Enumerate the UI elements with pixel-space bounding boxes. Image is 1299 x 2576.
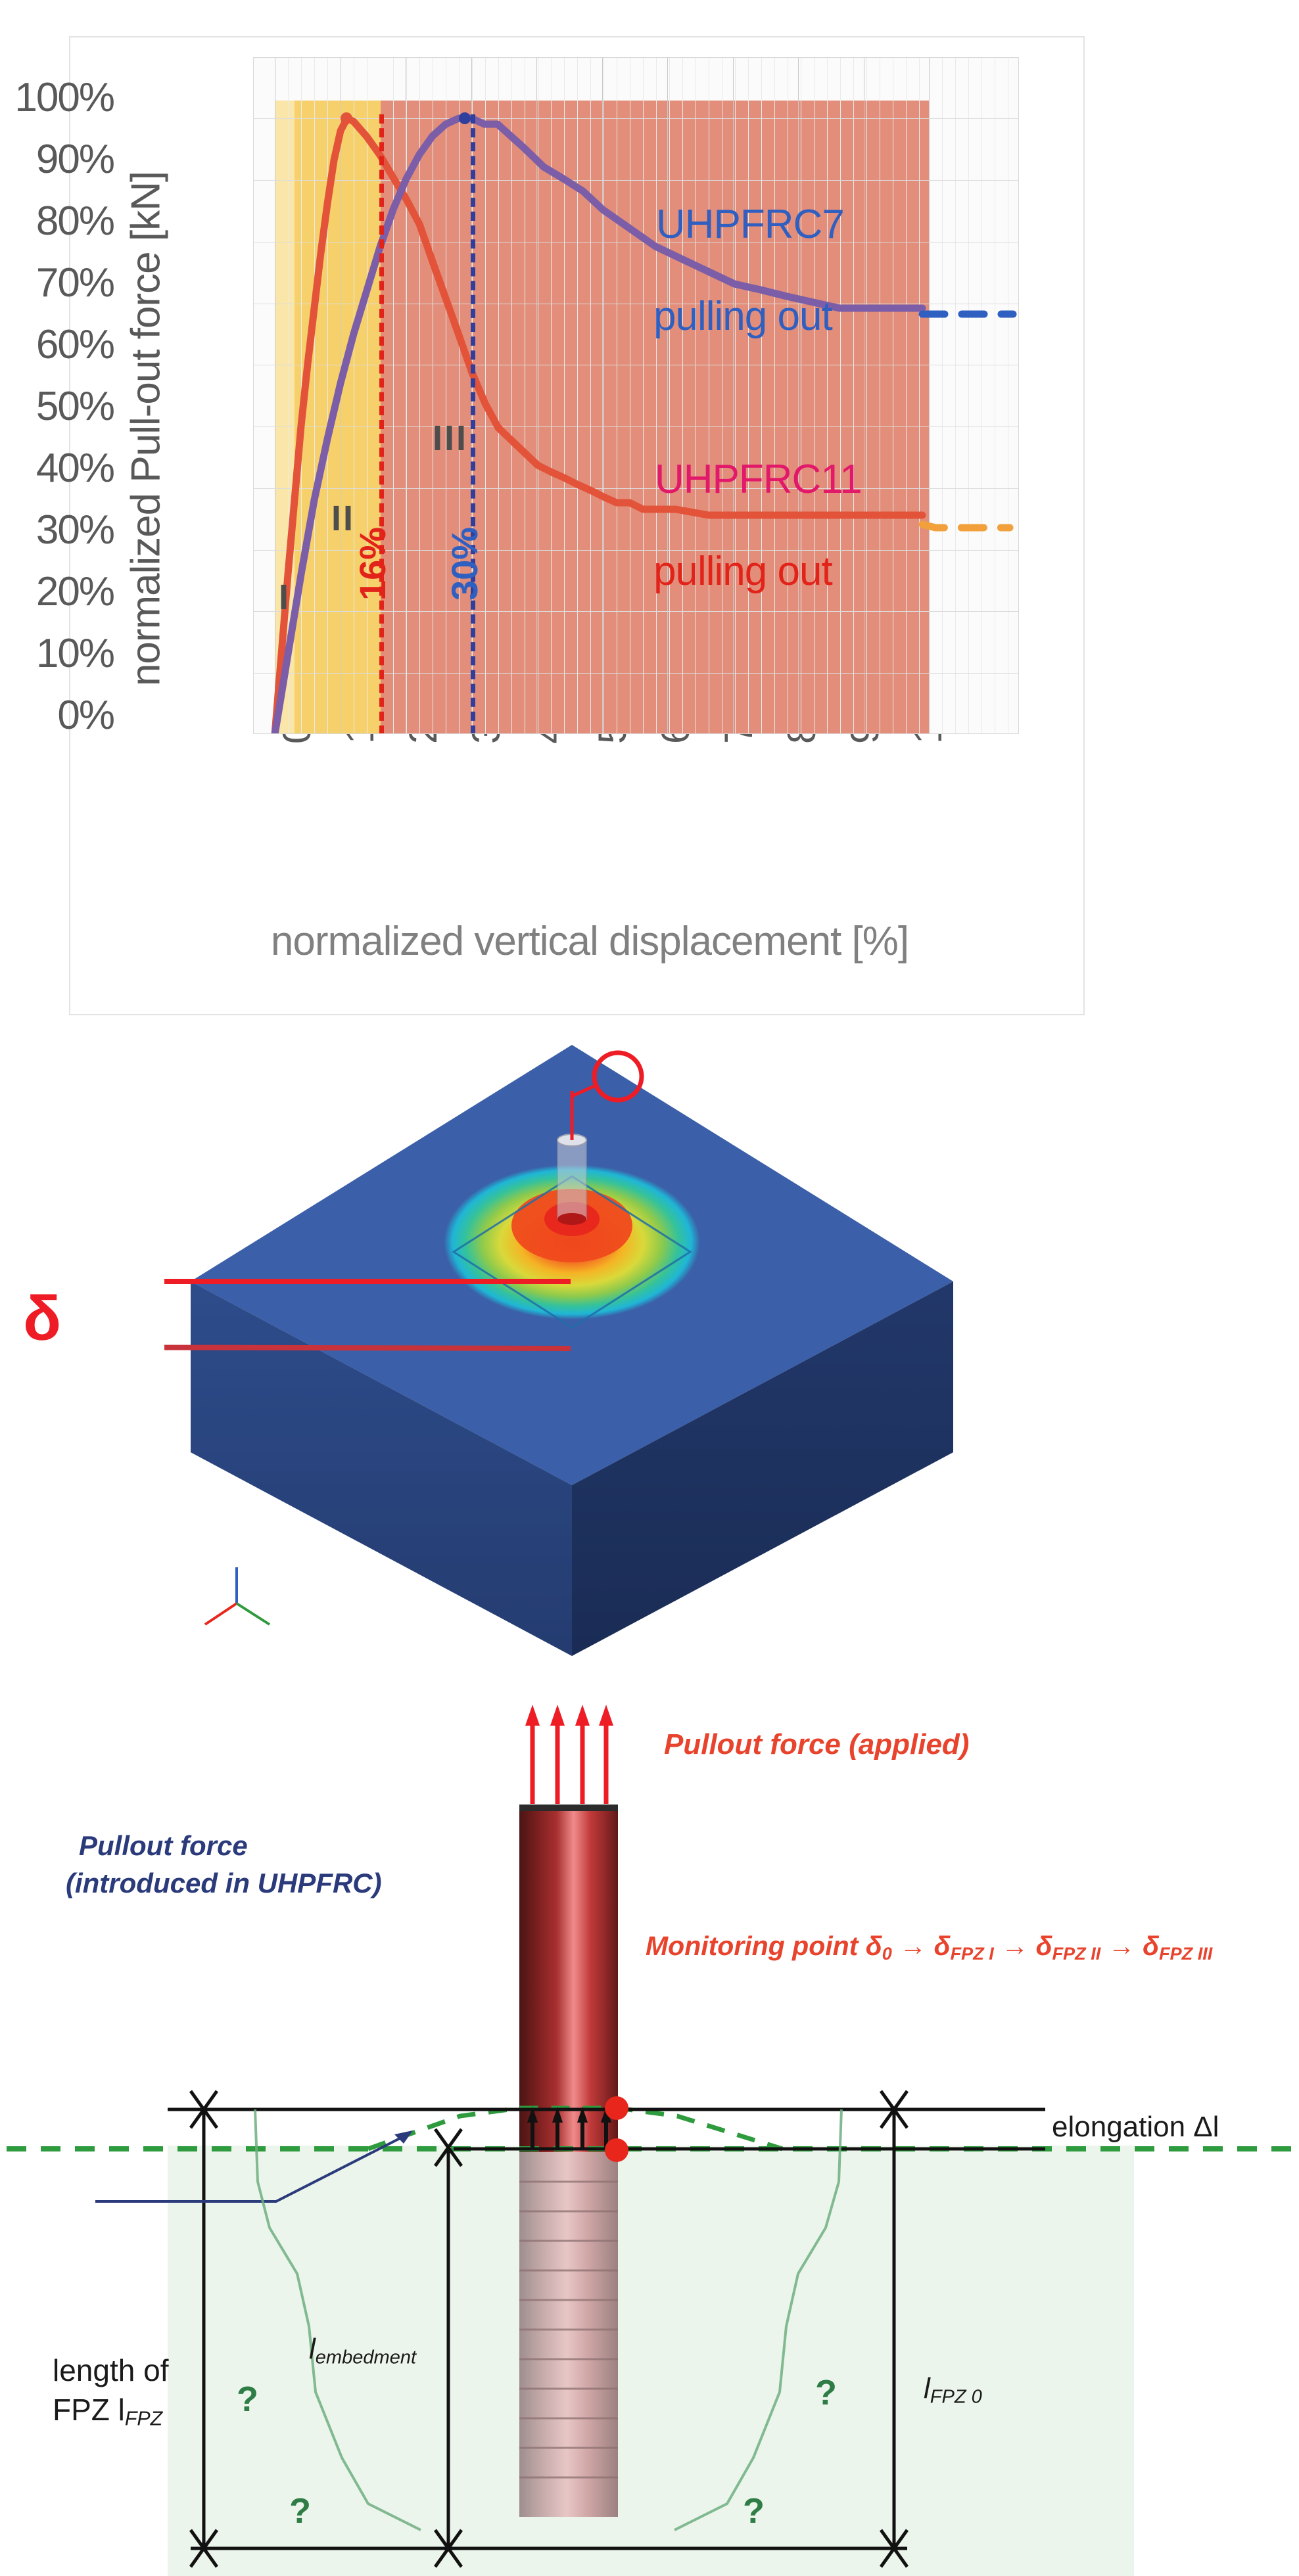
- chart-plot-area: I II III 16% 30% UHPFRC7 pulling out UHP…: [253, 57, 1019, 734]
- fpz-boundary-left: [255, 2109, 421, 2530]
- marker-label-30: 30%: [443, 527, 486, 601]
- marker-label-16: 16%: [351, 527, 394, 601]
- y-tick-70: 70%: [0, 260, 114, 306]
- series-uhpfrc11-dash: [922, 524, 1010, 528]
- l-fpz0-sub: FPZ 0: [930, 2386, 982, 2407]
- label-l-fpz0: lFPZ 0: [924, 2372, 982, 2408]
- monitoring-arrow-3: →: [1108, 1931, 1135, 1961]
- legend-uhpfrc11: UHPFRC11: [655, 456, 862, 503]
- fem-axis-triad: [205, 1567, 270, 1624]
- marker-line-16: [379, 114, 384, 734]
- y-tick-30: 30%: [0, 507, 114, 553]
- anchor-bar-top-cap: [519, 1805, 618, 1811]
- question-mark-1: ?: [237, 2379, 258, 2420]
- monitoring-point-upper: [605, 2096, 628, 2120]
- monitoring-arrow-2: →: [1001, 1931, 1028, 1961]
- question-mark-4: ?: [743, 2491, 765, 2531]
- applied-force-arrows: [532, 1716, 606, 1804]
- monitoring-delta0: δ: [866, 1931, 882, 1961]
- introduced-force-leader: [95, 2134, 408, 2201]
- y-tick-40: 40%: [0, 445, 114, 492]
- chart-x-axis-title: normalized vertical displacement [%]: [149, 918, 1030, 965]
- label-pullout-force-applied: Pullout force (applied): [664, 1728, 969, 1761]
- question-mark-2: ?: [289, 2491, 311, 2531]
- label-length-of-fpz-line1: length of: [53, 2353, 168, 2388]
- y-tick-0: 0%: [0, 692, 114, 739]
- monitoring-delta-fpz3: δ: [1143, 1931, 1159, 1961]
- marker-line-30: [471, 114, 475, 734]
- legend-uhpfrc7-sub: pulling out: [653, 293, 832, 340]
- fem-3d-view: δ: [164, 1025, 980, 1682]
- y-tick-90: 90%: [0, 136, 114, 183]
- anchor-bar-above-ground: [519, 1807, 618, 2152]
- y-tick-60: 60%: [0, 321, 114, 368]
- y-tick-80: 80%: [0, 198, 114, 244]
- label-length-of-fpz-line2: FPZ lFPZ: [53, 2392, 162, 2431]
- label-elongation: elongation Δl: [1052, 2111, 1219, 2144]
- monitoring-delta-fpz2: δ: [1036, 1931, 1052, 1961]
- length-of-fpz-sub: FPZ: [125, 2408, 162, 2430]
- l-embedment-text: l: [309, 2333, 316, 2365]
- monitoring-arrow-1: →: [899, 1931, 926, 1961]
- monitoring-delta0-sub: 0: [882, 1944, 892, 1964]
- label-pullout-force-introduced-line2: (introduced in UHPFRC): [66, 1868, 382, 1899]
- fpz-boundary-right: [674, 2109, 841, 2530]
- length-of-fpz-text: FPZ l: [53, 2393, 125, 2427]
- legend-uhpfrc11-sub: pulling out: [653, 548, 832, 595]
- question-mark-3: ?: [815, 2372, 837, 2413]
- label-l-embedment: lembedment: [309, 2333, 416, 2368]
- monitoring-delta-fpz3-sub: FPZ III: [1159, 1944, 1212, 1964]
- l-fpz0-text: l: [924, 2372, 930, 2404]
- label-monitoring-point: Monitoring point δ0 → δFPZ I → δFPZ II →…: [646, 1931, 1212, 1964]
- monitoring-prefix-text: Monitoring point: [646, 1931, 866, 1961]
- y-tick-100: 100%: [0, 74, 114, 121]
- monitoring-delta-fpz1-sub: FPZ I: [951, 1944, 994, 1964]
- l-embedment-sub: embedment: [316, 2347, 416, 2368]
- zone-label-I: I: [279, 577, 291, 618]
- monitoring-delta-fpz2-sub: FPZ II: [1052, 1944, 1101, 1964]
- label-pullout-force-introduced-line1: Pullout force: [79, 1830, 248, 1862]
- pullout-schematic-panel: Pullout force (applied) Pullout force (i…: [0, 1682, 1299, 2576]
- chart-y-axis-title: normalized Pull-out force [kN]: [123, 117, 170, 741]
- legend-uhpfrc7: UHPFRC7: [656, 201, 844, 248]
- peak-marker-uhpfrc11: [341, 112, 352, 124]
- delta-leader-bottom: [164, 1347, 571, 1348]
- introduced-force-arrowhead: [394, 2130, 413, 2144]
- y-tick-20: 20%: [0, 568, 114, 615]
- peak-marker-uhpfrc7: [459, 112, 471, 124]
- anchor-bar-embedded: [519, 2152, 618, 2517]
- pullout-force-chart-panel: normalized Pull-out force [kN] normalize…: [69, 36, 1085, 1015]
- zone-label-III: III: [433, 418, 468, 459]
- monitoring-delta-fpz1: δ: [934, 1931, 951, 1961]
- y-tick-10: 10%: [0, 630, 114, 677]
- delta-label: δ: [23, 1283, 61, 1355]
- y-tick-50: 50%: [0, 383, 114, 430]
- monitoring-point-lower: [605, 2138, 628, 2162]
- chart-curves: [254, 58, 1019, 734]
- fem-deformation-panel: δ: [0, 1025, 1299, 1682]
- applied-force-arrowheads: [525, 1705, 613, 1726]
- fem-block-svg: [164, 1025, 980, 1682]
